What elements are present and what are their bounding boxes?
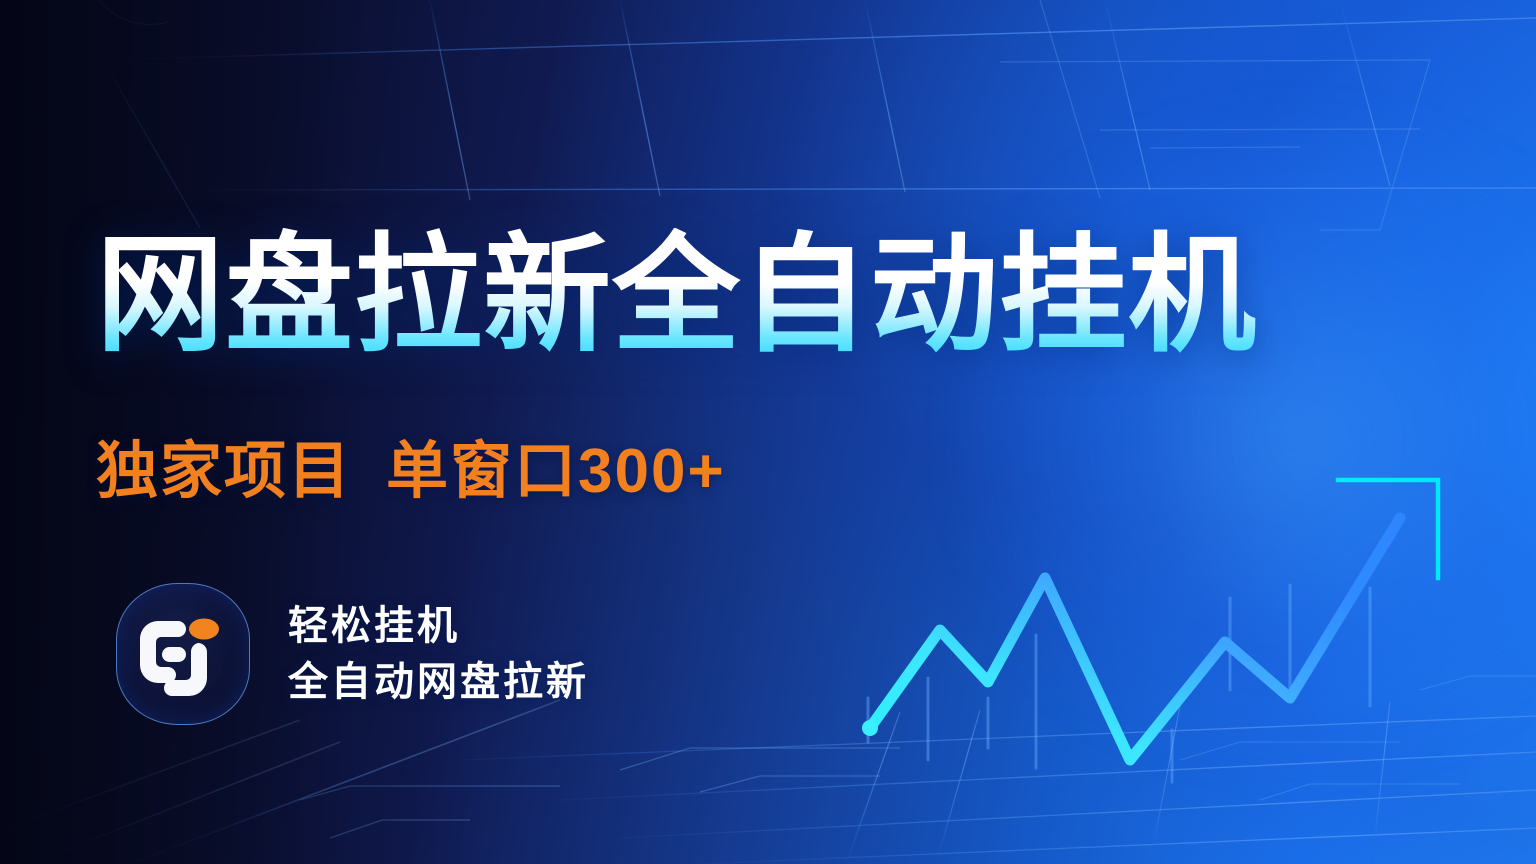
tagline-line-1: 轻松挂机 xyxy=(288,603,589,649)
right-glow xyxy=(916,120,1536,760)
chart-arrow-head xyxy=(1338,480,1438,578)
subheadline-right: 单窗口300+ xyxy=(386,437,726,506)
gj-monogram-icon xyxy=(116,583,250,725)
subheadline: 独家项目单窗口300+ xyxy=(96,420,726,510)
chart-tick-marks xyxy=(868,585,1370,782)
tagline-block: 轻松挂机 全自动网盘拉新 xyxy=(288,603,589,706)
chart-line xyxy=(870,518,1400,760)
page-title: 网盘拉新全自动挂机 xyxy=(96,228,1436,364)
headline-block: 网盘拉新全自动挂机 xyxy=(96,228,1436,364)
chart-start-dot xyxy=(862,720,878,736)
growth-chart xyxy=(840,430,1500,790)
subheadline-left: 独家项目 xyxy=(96,437,352,506)
brand-row: 轻松挂机 全自动网盘拉新 xyxy=(116,583,589,725)
tagline-line-2: 全自动网盘拉新 xyxy=(288,659,589,705)
promo-banner: 网盘拉新全自动挂机 独家项目单窗口300+ 轻松挂机 全自动网盘拉新 xyxy=(0,0,1536,864)
logo-badge xyxy=(116,583,250,725)
orange-dot-icon xyxy=(189,619,219,640)
